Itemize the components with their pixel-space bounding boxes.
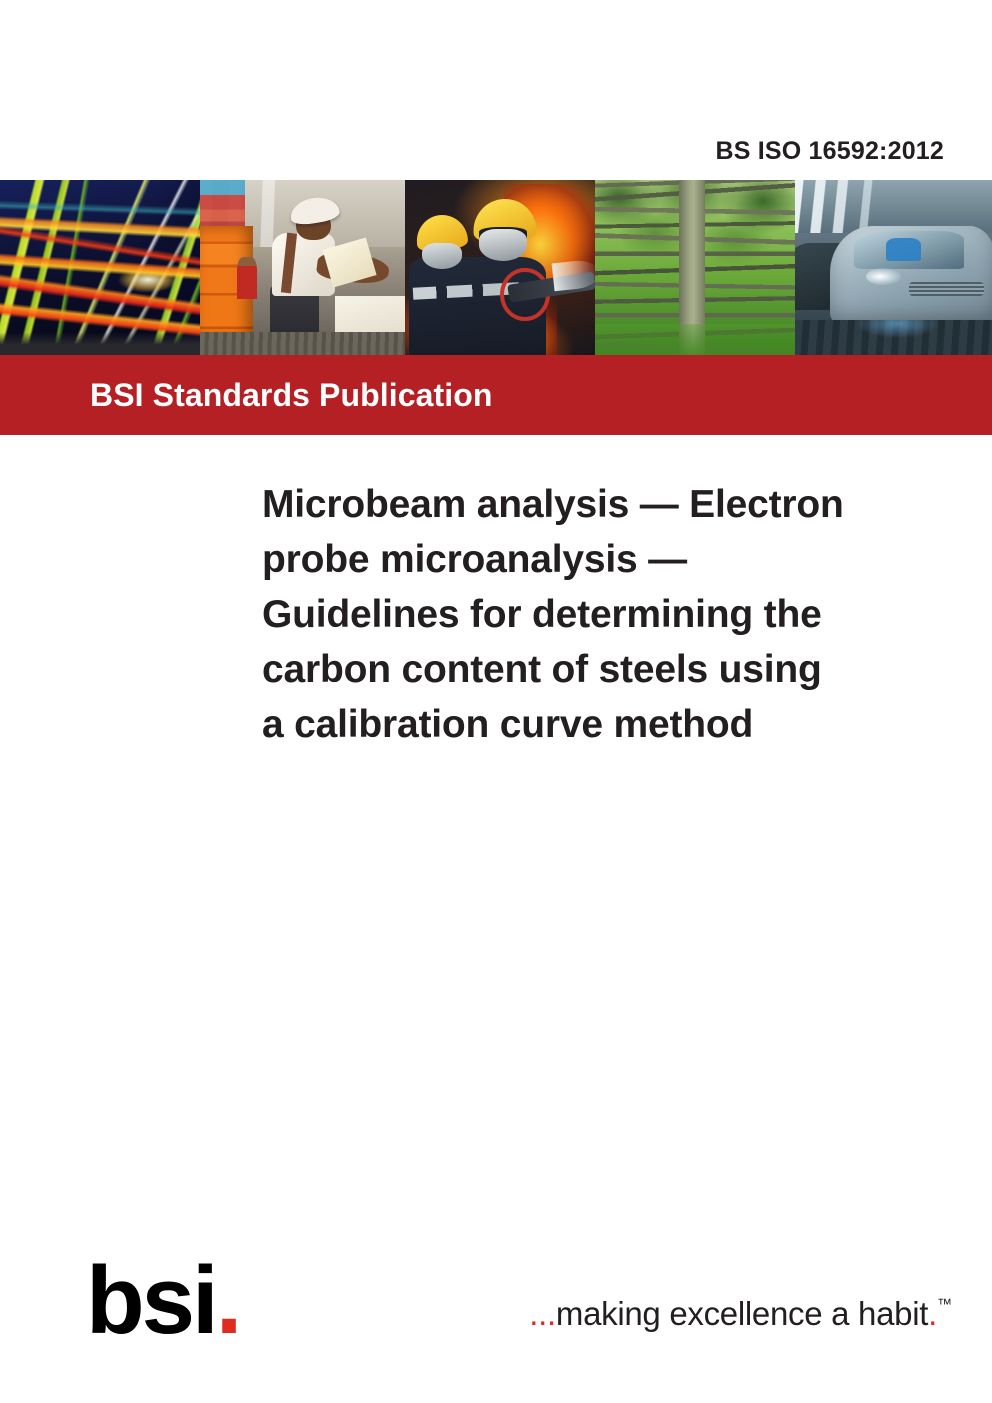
car-headlight [866,268,901,286]
car-seat [886,238,921,261]
car-assembly-line-photo [795,180,992,355]
cover-photo-strip [0,180,992,355]
warehouse-background-person [237,257,258,299]
tagline-leading-ellipsis: ... [529,1295,556,1332]
warehouse-worker-photo [200,180,405,355]
forest-undergrowth [595,324,795,356]
banner-label: BSI Standards Publication [90,377,493,414]
bsi-tagline: ...making excellence a habit.™ [529,1295,952,1333]
standard-number: BS ISO 16592:2012 [715,137,944,166]
assembly-line-floor [795,320,992,355]
forest-photo [595,180,795,355]
bsi-logo-red-dot: . [216,1247,240,1354]
firefighter-mask-right [479,229,527,261]
firefighters-photo [405,180,595,355]
factory-ceiling-lights [795,180,992,233]
warehouse-floor [200,332,405,355]
trademark-icon: ™ [937,1296,952,1313]
car-grille [909,282,984,296]
page-title: Microbeam analysis — Electron probe micr… [262,477,962,752]
water-spray [552,258,595,291]
title-line-1: Microbeam analysis — Electron [262,477,962,532]
tagline-text: making excellence a habit [556,1295,928,1332]
title-line-5: a calibration curve method [262,697,962,752]
title-line-3: Guidelines for determining the [262,587,962,642]
night-traffic-light-trails-photo [0,180,200,355]
bsi-logo-wordmark: bsi [86,1247,216,1354]
bsi-logo: bsi. [86,1253,239,1349]
title-line-2: probe microanalysis — [262,532,962,587]
title-line-4: carbon content of steels using [262,642,962,697]
standards-publication-banner: BSI Standards Publication [0,355,992,435]
tagline-full-stop: . [928,1295,937,1332]
